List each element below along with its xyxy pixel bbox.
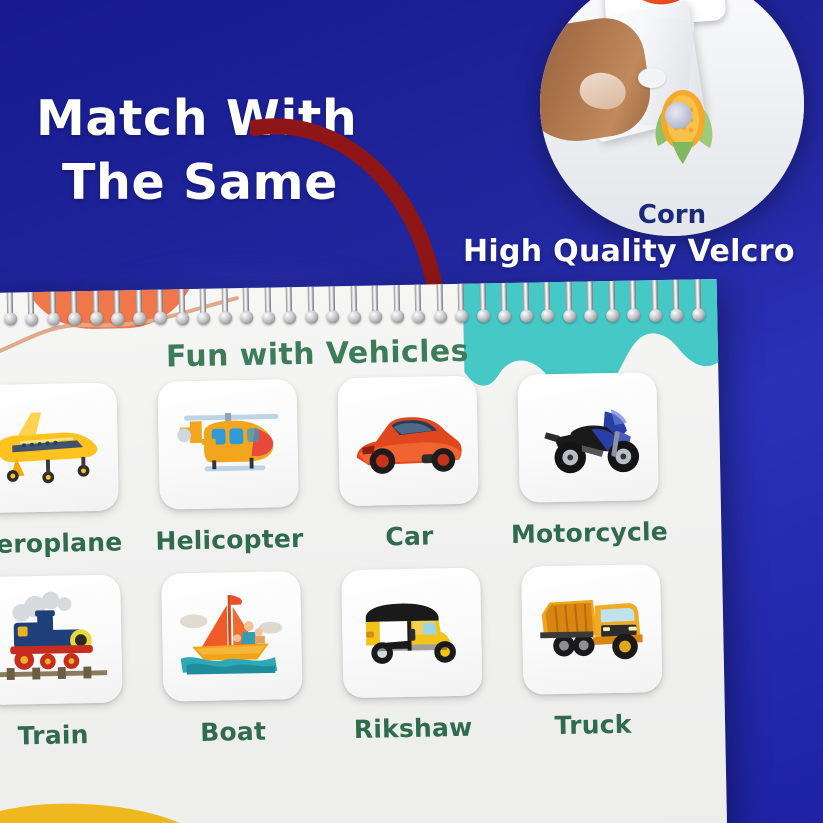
card-aeroplane[interactable]: [0, 382, 118, 513]
list-item[interactable]: Motorcycle: [496, 372, 679, 549]
card-rikshaw[interactable]: [341, 568, 482, 699]
velcro-circle-pad: [665, 102, 692, 129]
truck-icon: [531, 578, 651, 680]
vehicle-card-grid: Aeroplane: [0, 371, 703, 751]
spiral-ring: [539, 279, 555, 328]
card-boat[interactable]: [161, 571, 302, 702]
spiral-ring: [582, 279, 598, 327]
spiral-ring: [432, 279, 448, 328]
boat-icon: [171, 585, 291, 687]
card-train[interactable]: [0, 574, 122, 705]
card-helicopter[interactable]: [157, 379, 298, 510]
list-item[interactable]: Car: [316, 375, 499, 552]
spiral-ring: [324, 279, 340, 329]
list-item-label: Helicopter: [155, 524, 304, 556]
spiral-ring: [561, 279, 577, 328]
aeroplane-icon: [0, 397, 108, 499]
list-item-label: Motorcycle: [511, 517, 668, 549]
list-item[interactable]: Helicopter: [136, 379, 319, 556]
helicopter-icon: [168, 393, 288, 495]
car-icon: [348, 390, 468, 492]
card-car[interactable]: [337, 376, 478, 507]
spiral-ring: [518, 279, 534, 328]
velcro-demo-inset: Corn: [540, 0, 804, 236]
spiral-ring: [496, 279, 512, 328]
list-item[interactable]: Aeroplane: [0, 382, 140, 559]
spiral-ring: [303, 279, 319, 329]
train-icon: [0, 589, 111, 691]
list-item[interactable]: Train: [0, 574, 143, 751]
spiral-ring: [281, 279, 297, 329]
thumbnail-shape: [577, 69, 628, 112]
spiral-ring: [647, 279, 663, 327]
motorcycle-icon: [528, 386, 648, 488]
activity-book-page: Fun with Vehicles Aeroplan: [0, 279, 727, 823]
yellow-decoration: [0, 801, 218, 823]
list-item-label: Car: [385, 521, 434, 551]
spiral-ring: [690, 279, 706, 327]
spiral-ring: [475, 279, 491, 328]
spiral-ring: [625, 279, 641, 327]
rikshaw-icon: [351, 582, 471, 684]
list-item[interactable]: Truck: [500, 564, 683, 741]
card-truck[interactable]: [521, 564, 662, 695]
inset-item-label: Corn: [540, 200, 804, 230]
spiral-ring: [668, 279, 684, 327]
list-item-label: Truck: [554, 710, 631, 740]
spiral-ring: [367, 279, 383, 329]
spiral-ring: [346, 279, 362, 329]
list-item[interactable]: Rikshaw: [320, 567, 503, 744]
card-motorcycle[interactable]: [517, 372, 658, 503]
spiral-ring: [604, 279, 620, 327]
spiral-ring: [410, 279, 426, 328]
spiral-ring: [453, 279, 469, 328]
velcro-caption: High Quality Velcro: [463, 234, 795, 269]
spiral-ring: [389, 279, 405, 329]
page-title: Fun with Vehicles: [166, 334, 470, 375]
list-item-label: Train: [17, 720, 88, 750]
list-item-label: Boat: [200, 717, 266, 747]
list-item[interactable]: Boat: [140, 571, 323, 748]
list-item-label: Rikshaw: [354, 713, 473, 744]
list-item-label: Aeroplane: [0, 527, 123, 559]
